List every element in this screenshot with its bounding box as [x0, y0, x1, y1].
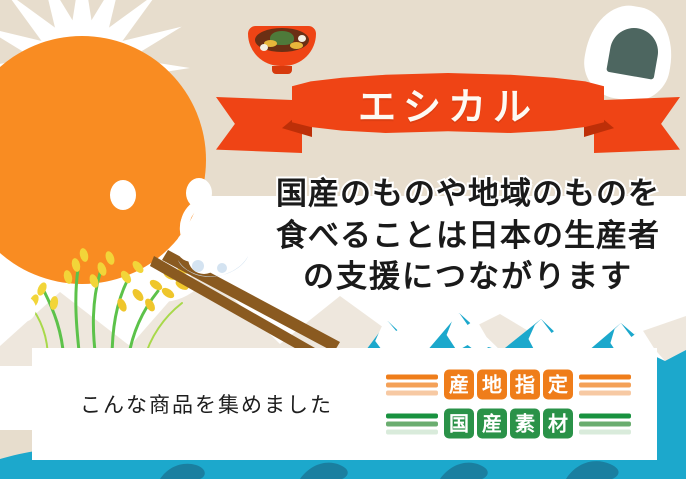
badge-chip: 産 [477, 409, 507, 439]
badge-bar [579, 413, 631, 418]
badge-chip: 素 [510, 409, 540, 439]
badge-chip: 材 [543, 409, 573, 439]
badge-bars-left [386, 374, 438, 395]
badge-bar [386, 429, 438, 434]
badge-bar [579, 429, 631, 434]
badge-bar [386, 421, 438, 426]
badge-bar [579, 421, 631, 426]
badge-chip: 指 [510, 370, 540, 400]
miso-soup-bowl [248, 22, 316, 74]
badge-stack: 産 地 指 定 国 産 [386, 370, 631, 439]
headline-line-1: 国産のものや地域のものを [262, 174, 674, 216]
badge-bars-right [579, 374, 631, 395]
sun-eye-left [110, 180, 136, 210]
garnish-tofu [260, 44, 268, 51]
headline-line-2: 食べることは日本の生産者 [262, 216, 674, 258]
garnish-tofu [298, 35, 306, 42]
badge-bar [386, 390, 438, 395]
ribbon-label: エシカル [292, 73, 604, 133]
badge-chip: 地 [477, 370, 507, 400]
rice-clump [170, 222, 256, 284]
badge-bar [386, 413, 438, 418]
badge-bars-left [386, 413, 438, 434]
badge-origin-designated: 産 地 指 定 [386, 370, 631, 400]
badge-bar [579, 382, 631, 387]
badge-chip: 産 [444, 370, 474, 400]
bottom-panel: こんな商品を集めました 産 地 指 定 [32, 348, 657, 460]
headline-line-3: の支援につながります [262, 257, 674, 299]
badge-bar [579, 390, 631, 395]
badge-bar [386, 374, 438, 379]
badge-chip: 国 [444, 409, 474, 439]
panel-label: こんな商品を集めました [80, 389, 333, 419]
headline: 国産のものや地域のものを 食べることは日本の生産者 の支援につながります [262, 174, 674, 299]
badge-chips: 産 地 指 定 [444, 370, 573, 400]
badge-chips: 国 産 素 材 [444, 409, 573, 439]
badge-bar [579, 374, 631, 379]
badge-chip: 定 [543, 370, 573, 400]
decor-dot [10, 296, 36, 322]
decor-dot [640, 316, 649, 325]
ribbon-banner: エシカル [292, 73, 604, 133]
badge-bar [386, 382, 438, 387]
garnish-scallion [290, 42, 303, 49]
badge-domestic-ingredients: 国 産 素 材 [386, 409, 631, 439]
bowl-foot [272, 66, 292, 74]
badge-bars-right [579, 413, 631, 434]
ethical-food-promo-banner: エシカル 国産のものや地域のものを 食べることは日本の生産者 の支援につながりま… [0, 0, 686, 479]
